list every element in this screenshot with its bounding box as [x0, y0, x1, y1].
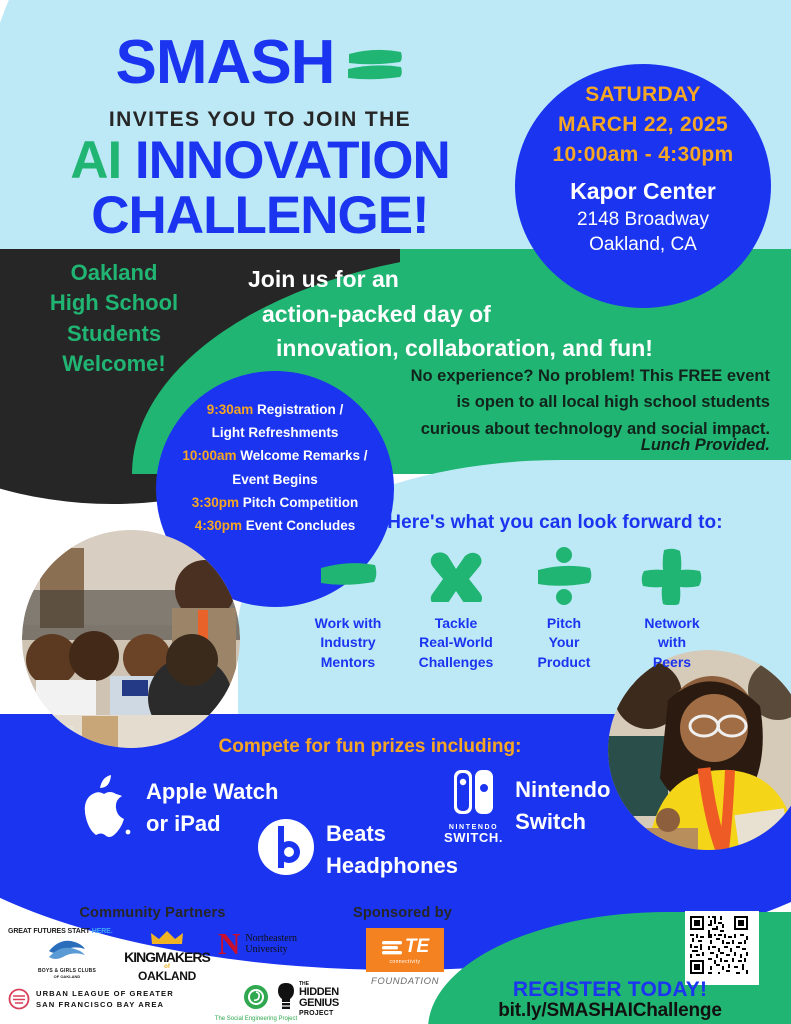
agenda-row-cont: Light Refreshments: [156, 421, 394, 444]
qr-code-icon[interactable]: [685, 911, 759, 985]
intro-line-1: Join us for an: [248, 262, 678, 297]
te-wordmark: TE: [405, 936, 429, 958]
label-line-3: Challenges: [408, 653, 504, 672]
crown-icon: [150, 930, 184, 946]
headline-ai: AI: [70, 131, 121, 190]
hg-label-3: PROJECT: [299, 1010, 339, 1017]
register-url[interactable]: bit.ly/SMASHAIChallenge: [460, 1000, 760, 1022]
look-forward-label: Pitch Your Product: [516, 614, 612, 672]
agenda-time: 3:30pm: [192, 495, 239, 510]
label-line-1: Pitch: [516, 614, 612, 633]
prize-line-2: Switch: [515, 806, 610, 838]
intro-line-2: action-packed day of: [248, 297, 678, 332]
te-subtitle: connectivity: [390, 959, 421, 965]
headline-line2: CHALLENGE!: [91, 186, 428, 245]
event-venue: Kapor Center: [515, 178, 771, 206]
label-line-2: Industry: [300, 633, 396, 652]
bgc-label-2: OF OAKLAND: [8, 974, 126, 979]
northeastern-university-logo: N Northeastern University: [218, 932, 328, 957]
label-line-3: Peers: [624, 653, 720, 672]
agenda-row: 10:00am Welcome Remarks /: [156, 444, 394, 467]
agenda-time: 9:30am: [207, 402, 254, 417]
apple-logo-icon: [78, 772, 134, 843]
label-line-3: Mentors: [300, 653, 396, 672]
prize-apple: Apple Watch or iPad: [78, 772, 278, 843]
register-cta[interactable]: REGISTER TODAY!: [460, 978, 760, 1002]
intro-line-3: innovation, collaboration, and fun!: [248, 331, 678, 366]
community-partners-title: Community Partners: [20, 905, 285, 921]
event-time: 10:00am - 4:30pm: [515, 140, 771, 170]
agenda-label: Welcome Remarks /: [240, 448, 367, 463]
eligibility-line-3: Students: [14, 319, 214, 349]
look-forward-label: Tackle Real-World Challenges: [408, 614, 504, 672]
kingmakers-label-2: OAKLAND: [120, 970, 214, 982]
te-foundation-caption: FOUNDATION: [350, 976, 460, 987]
label-line-2: Your: [516, 633, 612, 652]
label-line-2: Real-World: [408, 633, 504, 652]
prize-switch: NINTENDO SWITCH. Nintendo Switch: [444, 768, 610, 844]
prizes-title: Compete for fun prizes including:: [80, 736, 660, 758]
look-forward-item: Tackle Real-World Challenges: [408, 546, 504, 672]
te-mark: TE connectivity: [366, 928, 444, 972]
look-forward-item: Pitch Your Product: [516, 546, 612, 672]
invites-line: INVITES YOU TO JOIN THE: [0, 108, 520, 132]
urban-league-logo: URBAN LEAGUE OF GREATER SAN FRANCISCO BA…: [8, 988, 188, 1011]
lightbulb-icon: [276, 982, 296, 1010]
look-forward-label: Network with Peers: [624, 614, 720, 672]
event-address-line2: Oakland, CA: [515, 233, 771, 256]
equals-icon: [346, 36, 404, 98]
sep-label-1: The Social Engineering Project: [196, 1016, 316, 1022]
event-day: SATURDAY: [515, 80, 771, 110]
agenda-row-cont: Event Begins: [156, 468, 394, 491]
urban-league-label-2: SAN FRANCISCO BAY AREA: [36, 999, 174, 1010]
look-forward-item: Work with Industry Mentors: [300, 546, 396, 672]
switch-wordmark-bottom: SWITCH.: [444, 831, 503, 844]
look-forward-items: Work with Industry Mentors Tackle Real-W…: [300, 546, 720, 672]
divide-icon: [516, 546, 612, 606]
prize-line-1: Beats: [326, 818, 458, 850]
look-forward-title: Here's what you can look forward to:: [330, 512, 780, 534]
te-bars-icon: [381, 939, 403, 955]
bgc-tagline-accent: HERE.: [92, 928, 113, 935]
kingmakers-of-oakland-logo: KINGMAKERS of OAKLAND: [120, 930, 214, 982]
look-forward-label: Work with Industry Mentors: [300, 614, 396, 672]
smash-logo: SMASH: [0, 32, 520, 98]
agenda-row: 3:30pm Pitch Competition: [156, 491, 394, 514]
minus-icon: [300, 546, 396, 606]
label-line-1: Network: [624, 614, 720, 633]
intro-heading: Join us for an action-packed day of inno…: [248, 262, 678, 366]
beats-logo-icon: [258, 819, 314, 880]
prize-beats-label: Beats Headphones: [326, 818, 458, 882]
prize-switch-label: Nintendo Switch: [515, 774, 610, 838]
agenda-label: Pitch Competition: [243, 495, 359, 510]
label-line-2: with: [624, 633, 720, 652]
northeastern-label-2: University: [245, 944, 297, 956]
multiply-icon: [408, 546, 504, 606]
eligibility-line-2: High School: [14, 288, 214, 318]
sponsored-by-title: Sponsored by: [320, 905, 485, 921]
northeastern-label-1: Northeastern: [245, 933, 297, 945]
bgc-tagline: GREAT FUTURES START: [8, 928, 90, 935]
prize-beats: Beats Headphones: [258, 818, 458, 882]
label-line-1: Tackle: [408, 614, 504, 633]
event-address-line1: 2148 Broadway: [515, 208, 771, 231]
agenda-row: 9:30am Registration /: [156, 398, 394, 421]
nintendo-switch-logo-icon: NINTENDO SWITCH.: [444, 768, 503, 844]
students-workshop-photo: [22, 530, 240, 748]
smash-wordmark: SMASH: [116, 28, 335, 97]
urban-league-label-1: URBAN LEAGUE OF GREATER: [36, 988, 174, 999]
intro-body-line-1: No experience? No problem! This FREE eve…: [300, 363, 770, 389]
boys-and-girls-clubs-logo: GREAT FUTURES START HERE. BOYS & GIRLS C…: [8, 928, 126, 979]
northeastern-n-icon: N: [218, 932, 240, 957]
te-connectivity-foundation-logo: TE connectivity FOUNDATION: [350, 928, 460, 987]
kingmakers-label-1: KINGMAKERS: [120, 951, 214, 964]
prize-line-2: Headphones: [326, 850, 458, 882]
eligibility-line-4: Welcome!: [14, 349, 214, 379]
headline-rest: INNOVATION: [121, 131, 450, 190]
look-forward-item: Network with Peers: [624, 546, 720, 672]
plus-icon: [624, 546, 720, 606]
hidden-genius-project-logo: THE HIDDEN GENIUS PROJECT: [276, 982, 366, 1017]
prize-line-1: Apple Watch: [146, 776, 278, 808]
agenda-label: Registration /: [257, 402, 343, 417]
hg-label-2: GENIUS: [299, 998, 339, 1009]
label-line-1: Work with: [300, 614, 396, 633]
event-details-card: SATURDAY MARCH 22, 2025 10:00am - 4:30pm…: [515, 80, 771, 256]
eligibility-line-1: Oakland: [14, 258, 214, 288]
prize-line-1: Nintendo: [515, 774, 610, 806]
gear-icon: [243, 984, 269, 1010]
event-date: MARCH 22, 2025: [515, 110, 771, 140]
eligibility-note: Oakland High School Students Welcome!: [14, 258, 214, 379]
agenda-time: 4:30pm: [195, 518, 242, 533]
agenda-time: 10:00am: [182, 448, 236, 463]
event-flyer: SMASH INVITES YOU TO JOIN THE AI INNOVAT…: [0, 0, 791, 1024]
page-title: AI INNOVATION CHALLENGE!: [0, 134, 520, 243]
label-line-3: Product: [516, 653, 612, 672]
urban-league-mark-icon: [8, 988, 30, 1010]
